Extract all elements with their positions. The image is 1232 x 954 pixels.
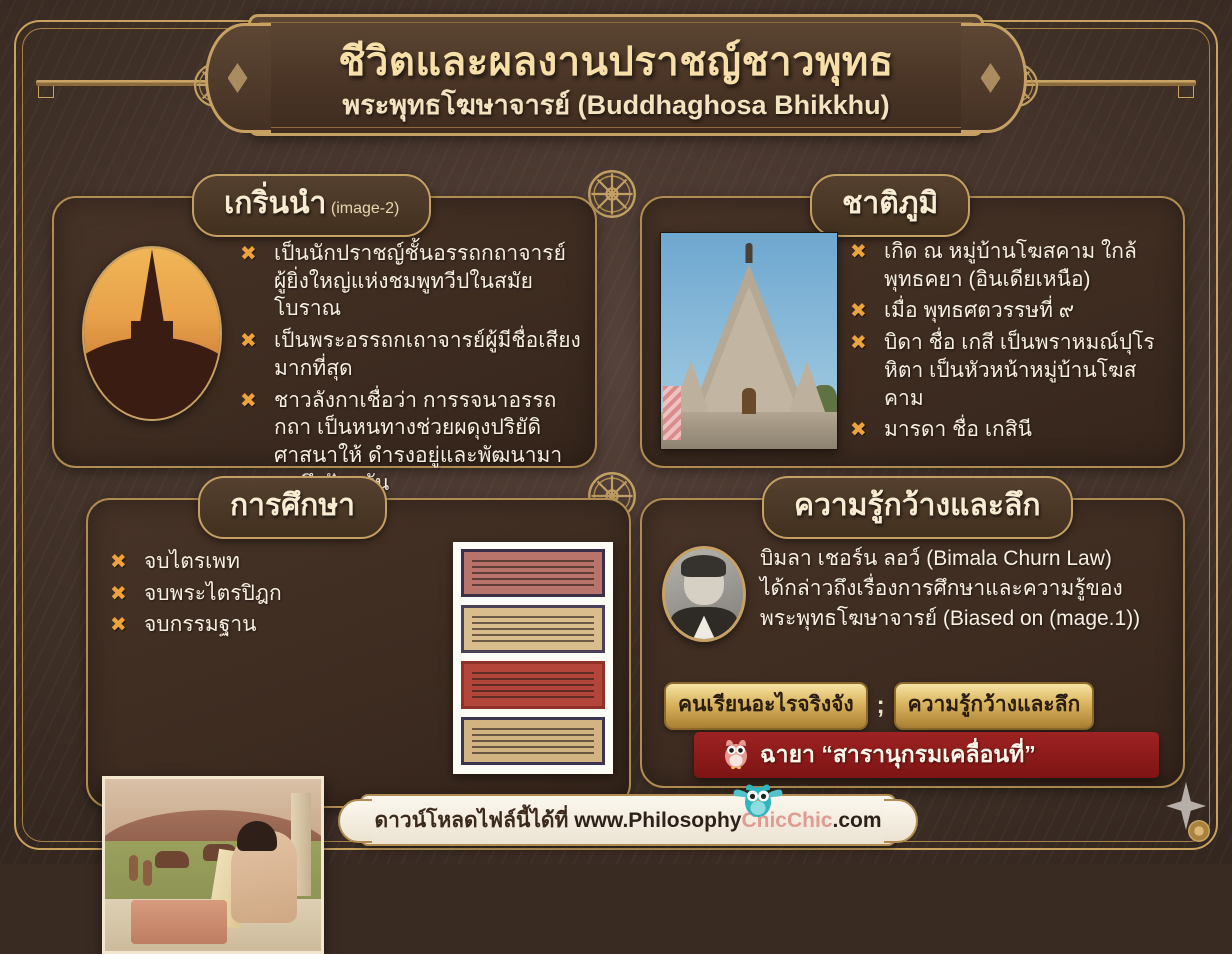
list-item-label: มารดา ชื่อ เกสินี	[884, 418, 1032, 441]
list-item-label: จบไตรเพท	[144, 550, 240, 573]
owl-icon	[720, 736, 752, 775]
scholar-mural-painting	[102, 776, 324, 954]
footer-cap-left	[338, 799, 372, 843]
body-line: บิมลา เชอร์น ลอว์ (Bimala Churn Law)	[760, 544, 1169, 574]
page-subtitle: พระพุทธโฆษาจารย์ (Buddhaghosa Bhikkhu)	[251, 83, 981, 126]
bullet-list: ✖จบไตรเพท ✖จบพระไตรปิฎก ✖จบกรรมฐาน	[110, 548, 380, 643]
list-item: ✖จบพระไตรปิฎก	[110, 580, 380, 608]
palm-leaf-manuscript-photo	[453, 542, 613, 774]
panel-birthplace: ชาติภูมิ ✖เกิด ณ หมู่บ้านโฆสคาม ใกล้พุทธ…	[640, 196, 1185, 468]
header-rule-right	[1026, 80, 1196, 86]
cross-bullet-icon: ✖	[110, 549, 127, 575]
poster-header: ชีวิตและผลงานปราชญ์ชาวพุทธ พระพุทธโฆษาจา…	[0, 14, 1232, 144]
badge-broad-deep-knowledge[interactable]: ความรู้กว้างและลึก	[894, 682, 1095, 730]
list-item: ✖เกิด ณ หมู่บ้านโฆสคาม ใกล้พุทธคยา (อินเ…	[850, 238, 1171, 293]
nickname-banner: ฉายา “สารานุกรมเคลื่อนที่”	[694, 732, 1159, 778]
rosette-ornament-icon	[1188, 820, 1210, 842]
panel-education: การศึกษา ✖จบไตรเพท ✖จบพระไตรปิฎก ✖จบกรรม…	[86, 498, 631, 808]
list-item-label: จบกรรมฐาน	[144, 613, 257, 636]
panel-heading-label: ชาติภูมิ	[842, 187, 938, 220]
cross-bullet-icon: ✖	[240, 388, 257, 414]
body-line: พระพุทธโฆษาจารย์ (Biased on (mage.1))	[760, 604, 1169, 634]
cross-bullet-icon: ✖	[850, 239, 867, 265]
title-plaque: ชีวิตและผลงานปราชญ์ชาวพุทธ พระพุทธโฆษาจา…	[248, 14, 984, 136]
body-line: ได้กล่าวถึงเรื่องการศึกษาและความรู้ของ	[760, 574, 1169, 604]
panel-heading-label: ความรู้กว้างและลึก	[794, 489, 1041, 522]
list-item-label: เป็นพระอรรถกเถาจารย์ผู้มีชื่อเสียง มากที…	[274, 329, 581, 380]
nickname-label: ฉายา “สารานุกรมเคลื่อนที่”	[760, 737, 1036, 773]
cross-bullet-icon: ✖	[850, 417, 867, 443]
mahabodhi-temple-photo	[660, 232, 838, 450]
cross-bullet-icon: ✖	[850, 330, 867, 356]
footer-bar: ดาวน์โหลดไฟล์นี้ได้ที่ www.PhilosophyChi…	[360, 794, 896, 846]
panel-heading-note: (image-2)	[331, 200, 399, 217]
list-item: ✖เป็นพระอรรถกเถาจารย์ผู้มีชื่อเสียง มากท…	[240, 327, 581, 382]
bullet-list: ✖เป็นนักปราชญ์ชั้นอรรถกถาจารย์ ผู้ยิ่งให…	[240, 240, 581, 501]
owl-icon	[730, 780, 786, 825]
cross-bullet-icon: ✖	[240, 241, 257, 267]
list-item: ✖มารดา ชื่อ เกสินี	[850, 416, 1171, 444]
list-item-label: เกิด ณ หมู่บ้านโฆสคาม ใกล้พุทธคยา (อินเด…	[884, 240, 1137, 291]
footer-download-text: ดาวน์โหลดไฟล์นี้ได้ที่ www.PhilosophyChi…	[374, 804, 881, 837]
panel-knowledge: ความรู้กว้างและลึก บิมลา เชอร์น ลอว์ (Bi…	[640, 498, 1185, 788]
badge-separator: ;	[877, 692, 885, 720]
footer-url-main: www.Philosophy	[574, 809, 741, 832]
badge-serious-learner[interactable]: คนเรียนอะไรจริงจัง	[664, 682, 868, 730]
diamond-ornament-icon	[981, 63, 1001, 93]
footer-url-tld: .com	[832, 809, 881, 832]
cross-bullet-icon: ✖	[850, 298, 867, 324]
knowledge-body-text: บิมลา เชอร์น ลอว์ (Bimala Churn Law) ได้…	[760, 544, 1169, 633]
list-item-label: เป็นนักปราชญ์ชั้นอรรถกถาจารย์ ผู้ยิ่งใหญ…	[274, 242, 566, 320]
list-item: ✖เมื่อ พุทธศตวรรษที่ ๙	[850, 297, 1171, 325]
list-item-label: จบพระไตรปิฎก	[144, 582, 282, 605]
list-item: ✖จบกรรมฐาน	[110, 611, 380, 639]
list-item-label: เมื่อ พุทธศตวรรษที่ ๙	[884, 299, 1074, 322]
panel-heading-birthplace: ชาติภูมิ	[810, 174, 970, 237]
stupa-sunset-photo	[82, 246, 222, 421]
list-item-label: บิดา ชื่อ เกสี เป็นพราหมณ์ปุโรหิตา เป็นห…	[884, 331, 1155, 409]
diamond-ornament-icon	[228, 63, 248, 93]
panel-introduction: เกริ่นนำ (image-2) ✖เป็นนักปราชญ์ชั้นอรร…	[52, 196, 597, 468]
panel-heading-label: เกริ่นนำ	[224, 187, 326, 220]
cross-bullet-icon: ✖	[110, 581, 127, 607]
list-item: ✖บิดา ชื่อ เกสี เป็นพราหมณ์ปุโรหิตา เป็น…	[850, 329, 1171, 412]
cross-bullet-icon: ✖	[110, 612, 127, 638]
footer-prefix: ดาวน์โหลดไฟล์นี้ได้ที่	[374, 809, 574, 832]
panel-heading-knowledge: ความรู้กว้างและลึก	[762, 476, 1073, 539]
bimala-churn-law-portrait	[662, 546, 746, 642]
header-rule-left	[36, 80, 206, 86]
bullet-list: ✖เกิด ณ หมู่บ้านโฆสคาม ใกล้พุทธคยา (อินเ…	[850, 238, 1171, 448]
knowledge-badges: คนเรียนอะไรจริงจัง ; ความรู้กว้างและลึก	[664, 682, 1165, 730]
list-item: ✖จบไตรเพท	[110, 548, 380, 576]
list-item: ✖เป็นนักปราชญ์ชั้นอรรถกถาจารย์ ผู้ยิ่งให…	[240, 240, 581, 323]
panel-heading-introduction: เกริ่นนำ (image-2)	[192, 174, 431, 237]
panel-heading-education: การศึกษา	[198, 476, 387, 539]
panel-heading-label: การศึกษา	[230, 489, 355, 522]
cross-bullet-icon: ✖	[240, 328, 257, 354]
